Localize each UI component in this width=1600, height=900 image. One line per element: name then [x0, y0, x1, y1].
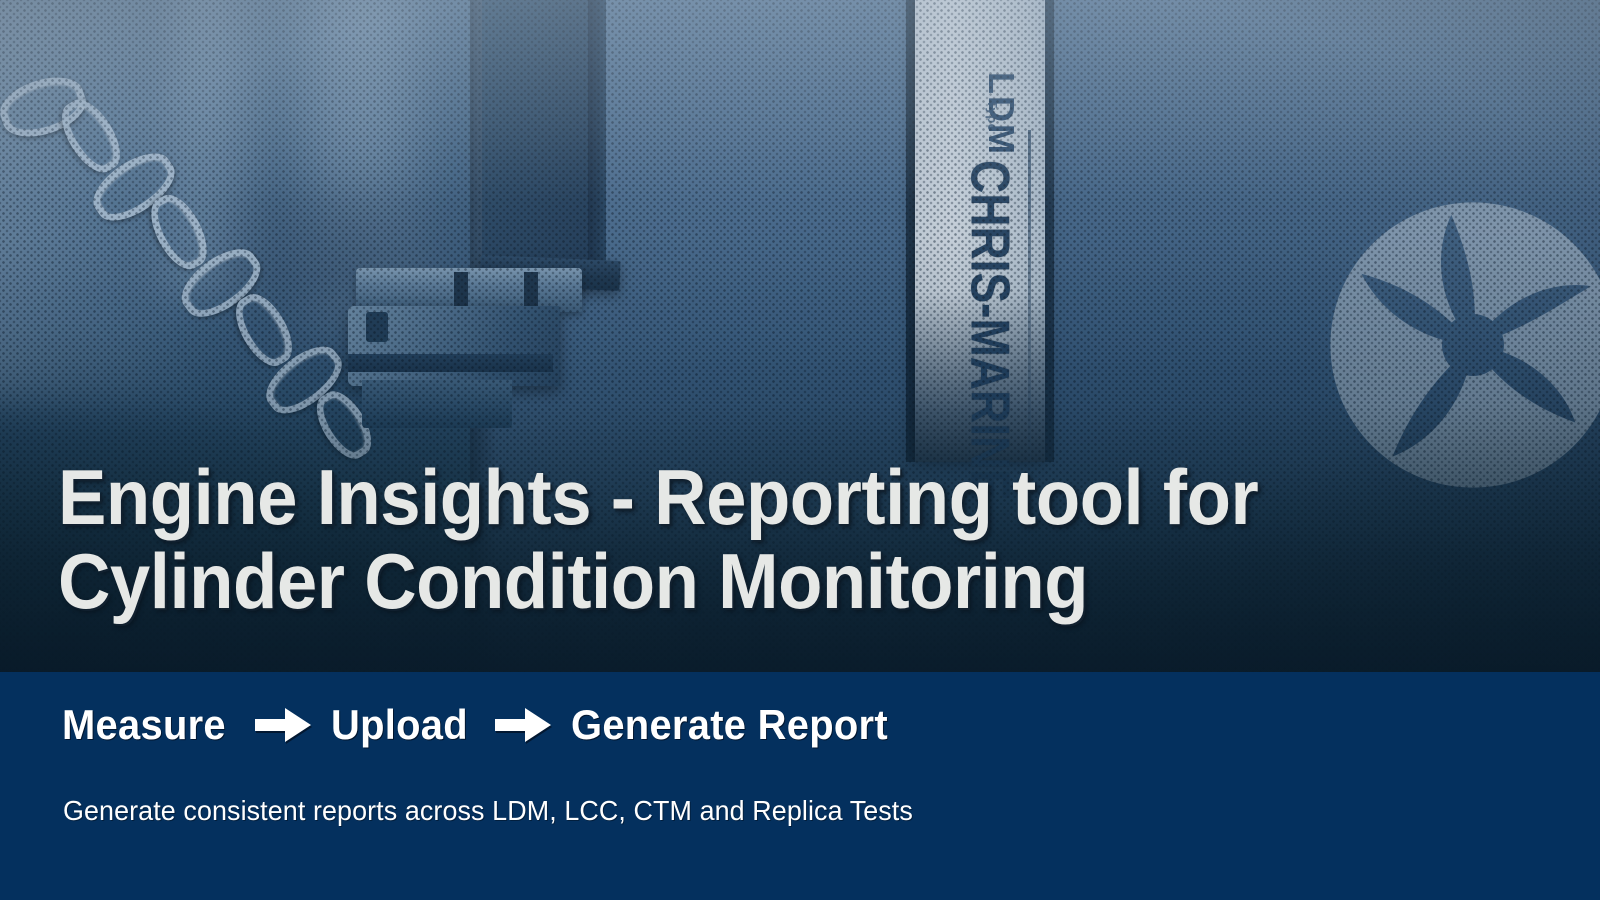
slide-root: Type LDM CHRIS-MARINE [0, 0, 1600, 900]
navy-footer-bar: Measure Upload Generate Report Generate … [0, 672, 1600, 900]
subtitle-text: Generate consistent reports across LDM, … [63, 794, 913, 828]
right-arrow-icon [235, 700, 331, 750]
process-steps-row: Measure Upload Generate Report [62, 700, 904, 750]
page-title-line-2: Cylinder Condition Monitoring [58, 539, 1258, 623]
process-step-generate-report[interactable]: Generate Report [571, 700, 888, 750]
right-arrow-icon-2 [475, 700, 571, 750]
page-title: Engine Insights - Reporting tool for Cyl… [58, 455, 1349, 623]
process-step-measure[interactable]: Measure [62, 700, 226, 750]
page-title-line-1: Engine Insights - Reporting tool for [58, 455, 1258, 539]
process-step-upload[interactable]: Upload [331, 700, 468, 750]
